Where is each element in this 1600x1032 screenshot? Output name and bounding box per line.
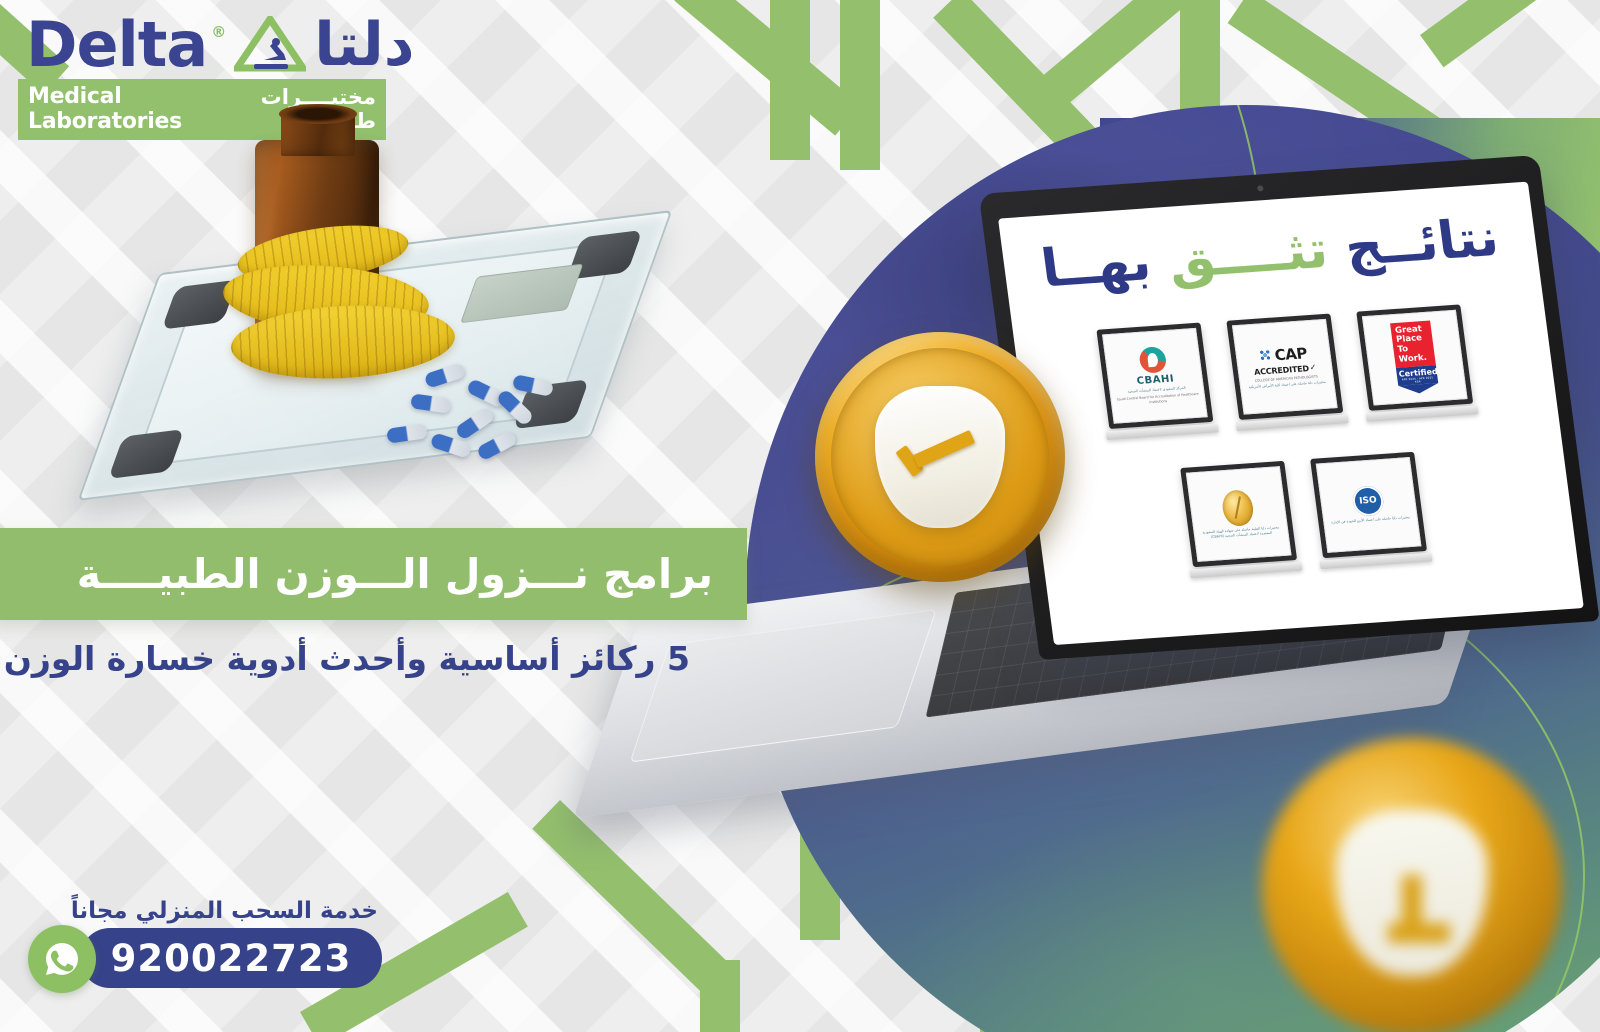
- gold-shield-check-coin-blurred: [1262, 738, 1562, 1032]
- certificate-row-top: CBAHI المركز السعودي لاعتماد المنشآت الص…: [1013, 299, 1557, 446]
- bottle-mouth: [279, 104, 357, 124]
- gold-medal-icon: [1221, 489, 1256, 527]
- certificate-face: مختبرات دلتا الطبية حاصلة على شهادة الهي…: [1186, 466, 1292, 562]
- laptop-screen: نتائــج تثــــق بهــا CBAHI المركز السعو…: [979, 155, 1600, 660]
- registered-mark-icon: ®: [211, 23, 226, 41]
- headline-banner: برامج نـــزول الـــوزن الطبيــــة: [0, 528, 747, 620]
- certificate-face: CAP ACCREDITED ✓ COLLEGE OF AMERICAN PAT…: [1232, 319, 1338, 415]
- certificate-gold-medal[interactable]: مختبرات دلتا الطبية حاصلة على شهادة الهي…: [1180, 461, 1298, 578]
- page-title: برامج نـــزول الـــوزن الطبيــــة: [77, 550, 713, 598]
- certificate-frame: CAP ACCREDITED ✓ COLLEGE OF AMERICAN PAT…: [1226, 314, 1343, 420]
- webcam-icon: [1257, 185, 1264, 191]
- cbahi-droplet-icon: [1138, 346, 1167, 374]
- logo-top-row: Delta ® دلتا: [18, 16, 386, 77]
- certificate-face: CBAHI المركز السعودي لاعتماد المنشآت الص…: [1102, 328, 1208, 424]
- page-subtitle: 5 ركائز أساسية وأحدث أدوية خسارة الوزن: [4, 639, 690, 678]
- gptw-bottom-block: Certified APR 2024 - APR 2025 KSA: [1396, 365, 1438, 386]
- gptw-ribbon-icon: Great Place To Work. Certified APR 2024 …: [1390, 321, 1439, 395]
- cap-dots-icon: [1259, 349, 1274, 363]
- gptw-top-block: Great Place To Work.: [1390, 321, 1436, 368]
- screen-headline-green: تثــــق: [1165, 220, 1331, 291]
- contact-phone-row[interactable]: 920022723: [28, 928, 388, 990]
- scale-foot-pad: [108, 429, 184, 479]
- screen-headline-part2: بهــا: [1038, 232, 1155, 299]
- cbahi-name: CBAHI: [1136, 374, 1175, 388]
- cap-name: CAP: [1273, 344, 1307, 364]
- certificate-great-place-to-work[interactable]: Great Place To Work. Certified APR 2024 …: [1356, 304, 1474, 421]
- gold-shield-check-coin: [815, 332, 1065, 582]
- laptop-screen-content: نتائــج تثــــق بهــا CBAHI المركز السعو…: [998, 182, 1584, 645]
- product-photo: [95, 138, 675, 488]
- microscope-triangle-icon: [234, 16, 306, 74]
- phone-number: 920022723: [111, 937, 352, 980]
- iso-seal-icon: ISO: [1351, 485, 1385, 517]
- screen-headline: نتائــج تثــــق بهــا: [1001, 205, 1539, 302]
- certificate-frame: CBAHI المركز السعودي لاعتماد المنشآت الص…: [1096, 323, 1213, 429]
- certificate-row-bottom: مختبرات دلتا الطبية حاصلة على شهادة الهي…: [1032, 441, 1576, 588]
- certificate-cap[interactable]: CAP ACCREDITED ✓ COLLEGE OF AMERICAN PAT…: [1226, 314, 1344, 431]
- certificate-face: ISO مختبرات دلتا حاصلة على اعتماد الأيزو…: [1316, 457, 1422, 553]
- check-icon: [901, 444, 979, 470]
- logo-wordmark-ar: دلتا: [314, 17, 414, 74]
- phone-number-pill[interactable]: 920022723: [80, 928, 382, 988]
- cap-logo-row: CAP: [1258, 344, 1307, 365]
- iso-caption-ar: مختبرات دلتا حاصلة على اعتماد الأيزو للج…: [1331, 516, 1410, 527]
- check-icon-blurred: [1388, 875, 1448, 947]
- certificate-cbahi[interactable]: CBAHI المركز السعودي لاعتماد المنشآت الص…: [1096, 323, 1214, 440]
- certificate-frame: مختبرات دلتا الطبية حاصلة على شهادة الهي…: [1180, 461, 1297, 567]
- subheadline: 5 ركائز أساسية وأحدث أدوية خسارة الوزن: [0, 628, 700, 688]
- logo-tagline-en: Medical Laboratories: [28, 84, 213, 134]
- gptw-line4: Work.: [1398, 353, 1432, 365]
- certificate-iso[interactable]: ISO مختبرات دلتا حاصلة على اعتماد الأيزو…: [1310, 452, 1428, 569]
- contact-block: خدمة السحب المنزلي مجاناً 920022723: [28, 898, 388, 990]
- poster-canvas: Delta ® دلتا Medical Laboratories مختبــ…: [0, 0, 1600, 1032]
- certificate-frame: Great Place To Work. Certified APR 2024 …: [1356, 304, 1473, 410]
- gold-medal-caption-ar: مختبرات دلتا الطبية حاصلة على شهادة الهي…: [1198, 525, 1283, 541]
- certificate-face: Great Place To Work. Certified APR 2024 …: [1362, 310, 1468, 406]
- whatsapp-icon[interactable]: [28, 925, 96, 993]
- certificate-frame: ISO مختبرات دلتا حاصلة على اعتماد الأيزو…: [1310, 452, 1427, 558]
- logo-wordmark-en: Delta: [26, 16, 207, 75]
- contact-service-label: خدمة السحب المنزلي مجاناً: [28, 898, 388, 924]
- screen-headline-part1: نتائــج: [1341, 208, 1502, 278]
- check-icon: ✓: [1309, 365, 1316, 371]
